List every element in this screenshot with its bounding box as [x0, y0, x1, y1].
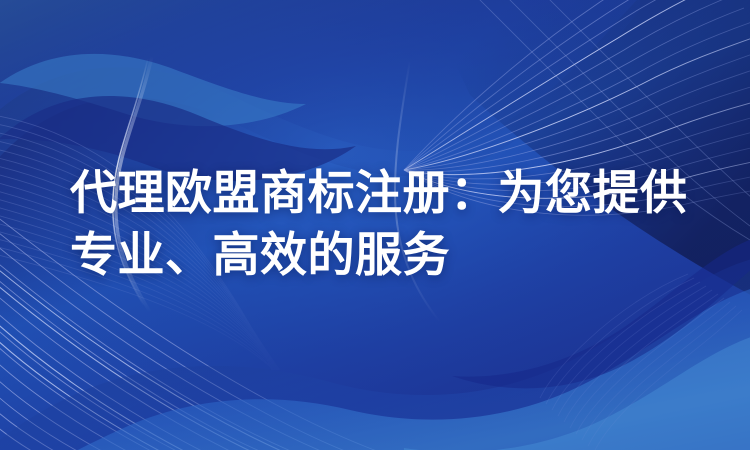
banner-background-artwork	[0, 0, 750, 450]
marketing-banner: 代理欧盟商标注册：为您提供专业、高效的服务	[0, 0, 750, 450]
